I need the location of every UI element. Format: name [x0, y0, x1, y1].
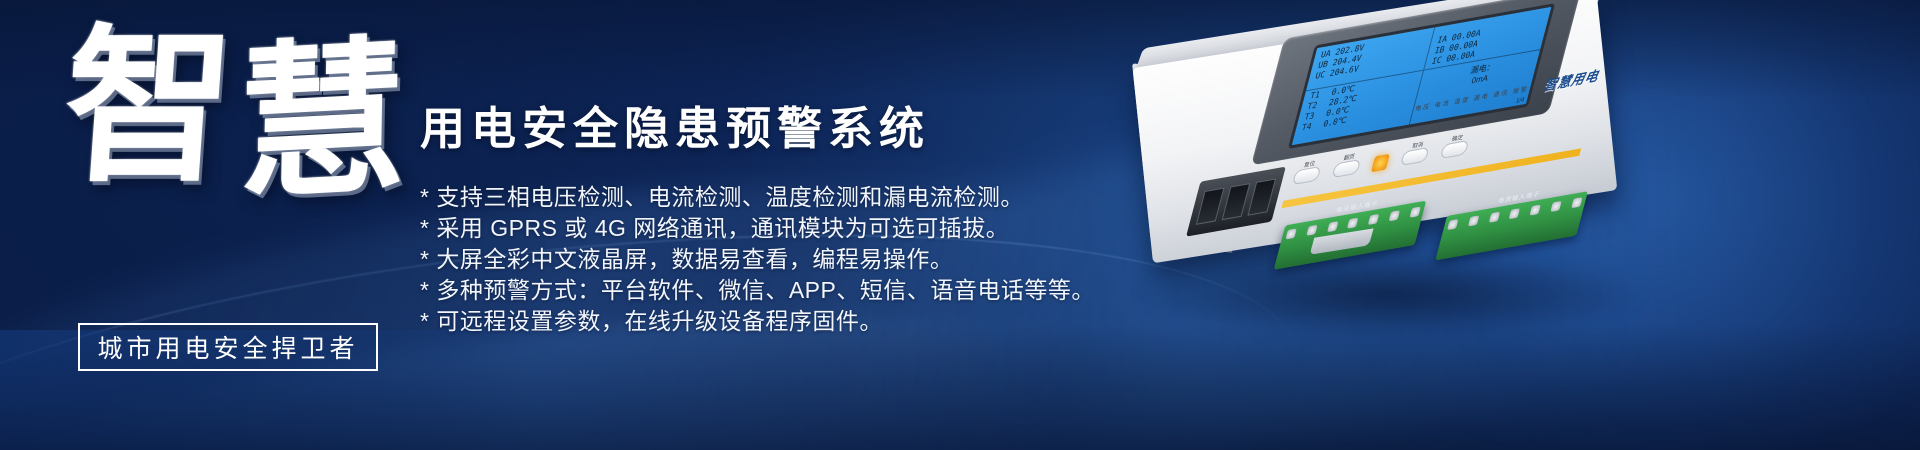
screw-icon [1468, 215, 1479, 226]
screw-icon [1509, 208, 1520, 219]
screw-icon [1550, 201, 1561, 212]
screw-icon [1447, 219, 1458, 230]
list-item: * 支持三相电压检测、电流检测、温度检测和漏电流检测。 [420, 182, 1160, 213]
list-item: * 采用 GPRS 或 4G 网络通讯，通讯模块为可选可插拔。 [420, 213, 1160, 244]
warning-led-icon [1371, 153, 1390, 171]
screw-icon [1389, 210, 1400, 221]
screw-icon [1488, 212, 1499, 223]
lcd-temp-label-4: T4 [1300, 121, 1312, 133]
device-button-confirm[interactable]: 确定 [1440, 140, 1470, 159]
calligraphy-char-1: 智 [58, 7, 246, 205]
connector-pin [1247, 178, 1276, 215]
calligraphy-char-2: 慧 [236, 32, 413, 209]
list-item: * 大屏全彩中文液晶屏，数据易查看，编程易操作。 [420, 244, 1160, 275]
screw-icon [1327, 221, 1338, 232]
screw-icon [1571, 197, 1582, 208]
device-button-cancel[interactable]: 取消 [1400, 147, 1430, 166]
slogan-box: 城市用电安全捍卫者 [78, 323, 378, 371]
device-button-page[interactable]: 翻页 [1331, 159, 1361, 178]
list-item: * 多种预警方式：平台软件、微信、APP、短信、语音电话等等。 [420, 275, 1160, 306]
page-title: 用电安全隐患预警系统 [420, 92, 930, 157]
screw-icon [1285, 228, 1296, 239]
feature-list: * 支持三相电压检测、电流检测、温度检测和漏电流检测。 * 采用 GPRS 或 … [420, 182, 1160, 337]
list-item: * 可远程设置参数，在线升级设备程序固件。 [420, 306, 1160, 337]
screw-icon [1347, 218, 1358, 229]
slogan-text: 城市用电安全捍卫者 [97, 329, 358, 365]
screw-icon [1530, 204, 1541, 215]
promo-banner: 智慧 城市用电安全捍卫者 用电安全隐患预警系统 * 支持三相电压检测、电流检测、… [0, 0, 1920, 450]
screw-icon [1306, 225, 1317, 236]
connector-pin [1196, 188, 1225, 225]
screw-icon [1409, 207, 1420, 218]
connector-pin [1222, 183, 1251, 220]
screw-icon [1368, 214, 1379, 225]
calligraphy-title: 智慧 [53, 22, 430, 272]
device-button-reset[interactable]: 复位 [1292, 166, 1322, 185]
